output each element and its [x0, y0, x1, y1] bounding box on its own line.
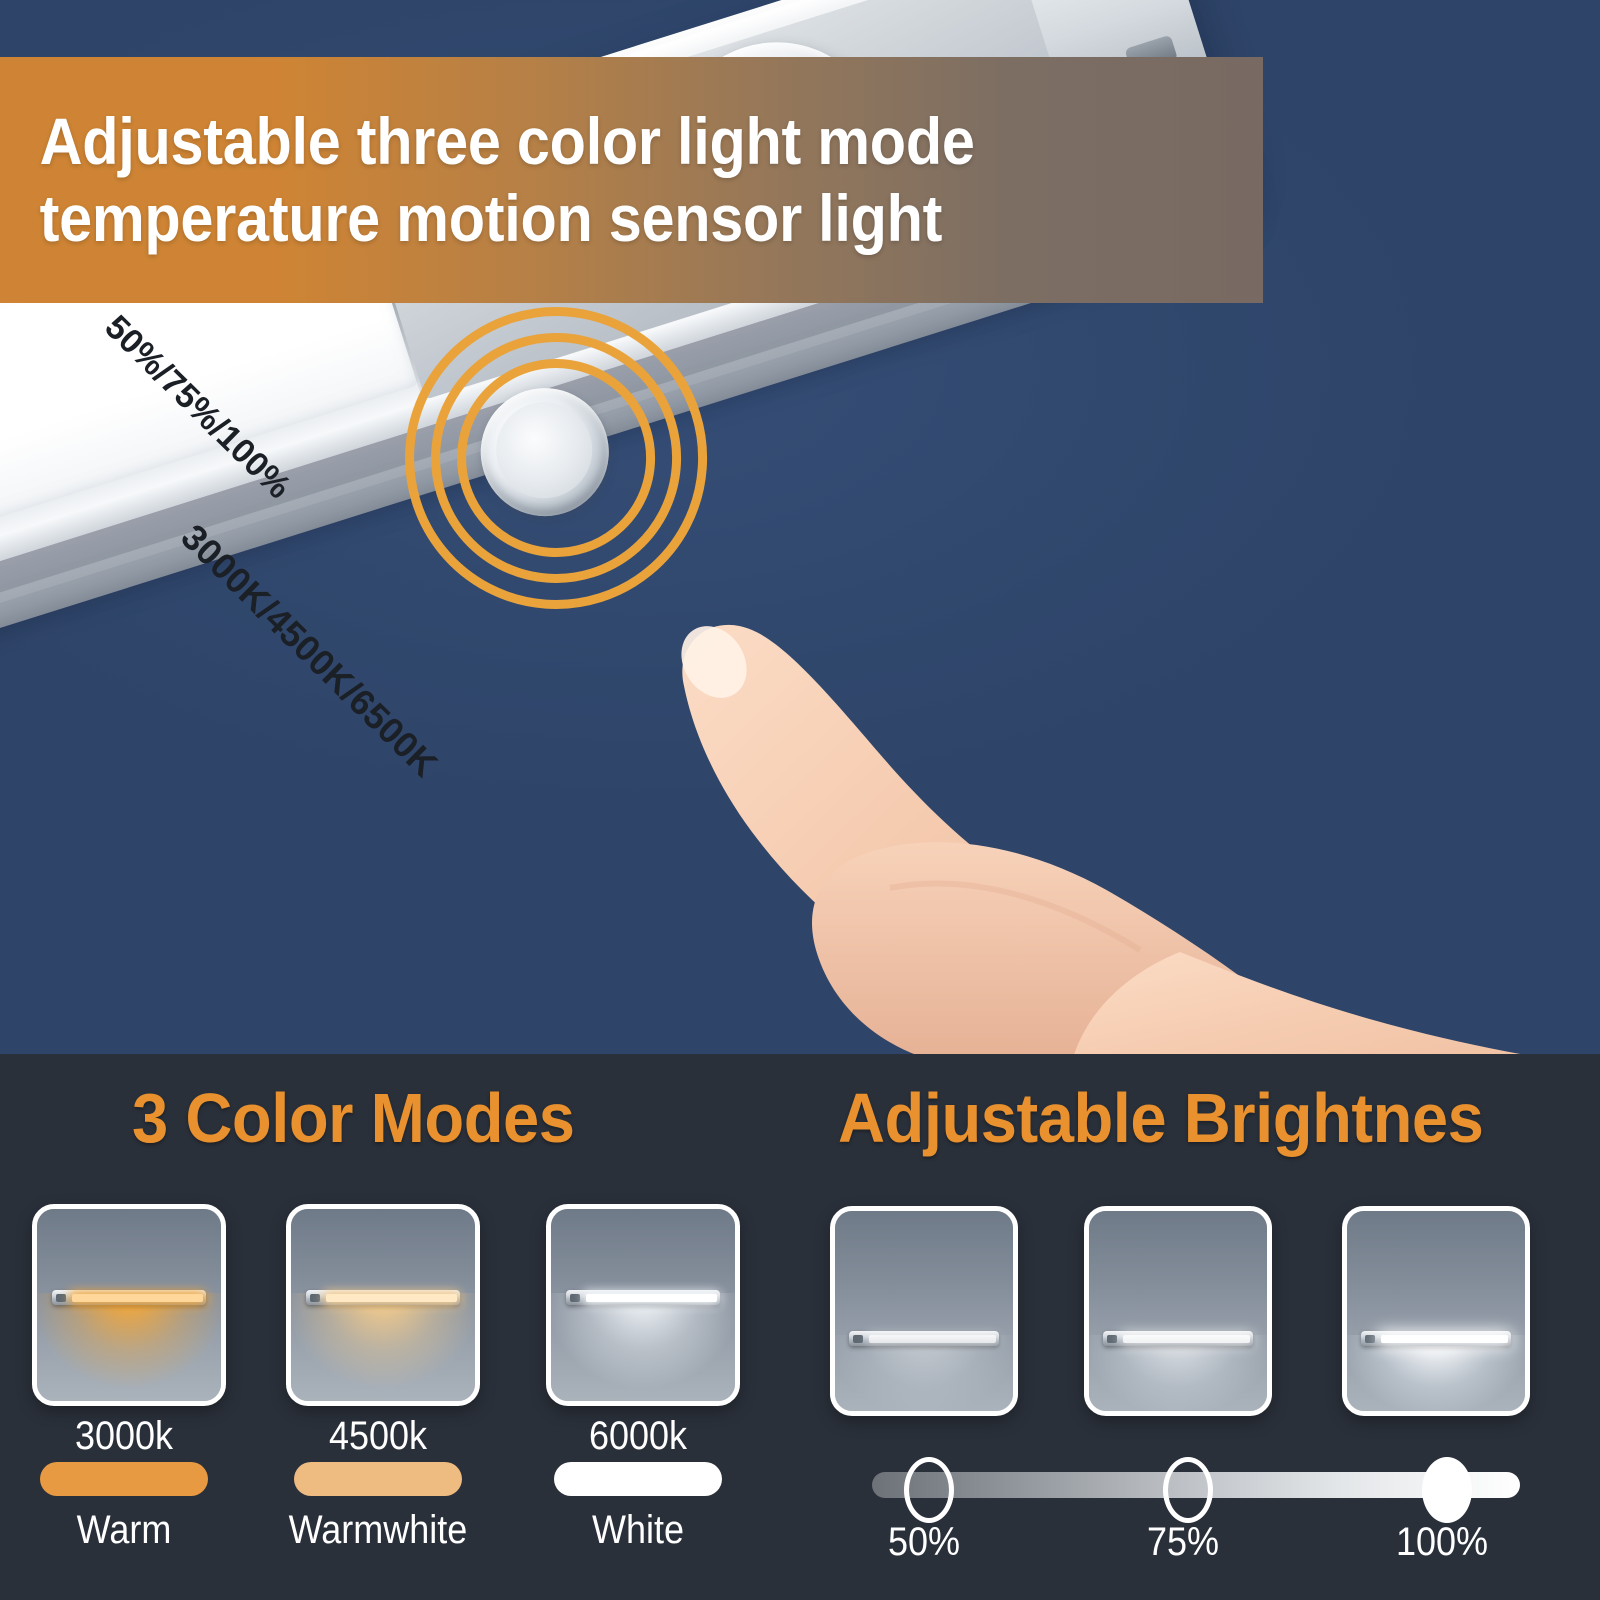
thumbnail-wall: [1347, 1211, 1525, 1411]
color-mode-name: White: [528, 1508, 748, 1553]
thumbnail-lens: [1381, 1335, 1508, 1343]
brightness-thumbnail[interactable]: [1342, 1206, 1530, 1416]
thumbnail-sensor: [310, 1294, 321, 1302]
slider-handle[interactable]: [904, 1457, 954, 1523]
slider-level-label: 50%: [843, 1520, 1005, 1565]
thumbnail-sensor: [570, 1294, 581, 1302]
thumbnail-lens: [869, 1335, 996, 1343]
light-bar-thumbnail: [52, 1290, 207, 1305]
thumbnail-lens: [586, 1294, 717, 1302]
light-bar-thumbnail: [566, 1290, 721, 1305]
light-bar-thumbnail: [306, 1290, 461, 1305]
color-mode-name: Warmwhite: [268, 1508, 488, 1553]
thumbnail-lens: [72, 1294, 203, 1302]
thumbnail-wall: [551, 1209, 735, 1401]
color-mode-thumbnail[interactable]: [546, 1204, 740, 1406]
thumbnail-sensor: [1107, 1335, 1117, 1343]
thumbnail-wall: [835, 1211, 1013, 1411]
headline-line-2: temperature motion sensor light: [40, 180, 975, 257]
wrist-forearm: [1070, 952, 1600, 1056]
brightness-thumbnail[interactable]: [830, 1206, 1018, 1416]
headline-line-1: Adjustable three color light mode: [40, 103, 975, 180]
light-bar-thumbnail: [1103, 1331, 1253, 1346]
color-temperature-engraved-label: 3000K/4500K/6500K: [173, 516, 446, 785]
infographic-page: 50%/75%/100% 3000K/4500K/6500K: [0, 0, 1600, 1600]
light-bar-thumbnail: [1361, 1331, 1511, 1346]
light-bar-thumbnail: [849, 1331, 999, 1346]
thumbnail-wall: [291, 1209, 475, 1401]
thumbnail-lens: [1123, 1335, 1250, 1343]
thumbnail-sensor: [853, 1335, 863, 1343]
brightness-thumbnail[interactable]: [1084, 1206, 1272, 1416]
headline-text: Adjustable three color light mode temper…: [0, 103, 993, 256]
color-temperature-label: 6000k: [546, 1414, 730, 1459]
thumbnail-sensor: [56, 1294, 67, 1302]
color-temperature-label: 4500k: [286, 1414, 470, 1459]
slider-level-label: 75%: [1102, 1520, 1264, 1565]
color-swatch: [40, 1462, 208, 1496]
color-swatch: [294, 1462, 462, 1496]
hand-illustration: [640, 600, 1600, 1056]
color-modes-title: 3 Color Modes: [132, 1078, 574, 1158]
slider-level-label: 100%: [1361, 1520, 1523, 1565]
pointing-hand: [640, 600, 1600, 1056]
thumbnail-wall: [37, 1209, 221, 1401]
thumbnail-lens: [326, 1294, 457, 1302]
color-mode-thumbnail[interactable]: [32, 1204, 226, 1406]
slider-handle[interactable]: [1422, 1457, 1472, 1523]
slider-handle[interactable]: [1163, 1457, 1213, 1523]
color-swatch: [554, 1462, 722, 1496]
hero-product-photo: 50%/75%/100% 3000K/4500K/6500K: [0, 0, 1600, 1056]
color-mode-thumbnail[interactable]: [286, 1204, 480, 1406]
thumbnail-sensor: [1365, 1335, 1375, 1343]
color-temperature-label: 3000k: [32, 1414, 216, 1459]
thumbnail-wall: [1089, 1211, 1267, 1411]
brightness-title: Adjustable Brightnes: [838, 1078, 1483, 1158]
headline-banner: Adjustable three color light mode temper…: [0, 57, 1263, 303]
color-mode-name: Warm: [14, 1508, 234, 1553]
